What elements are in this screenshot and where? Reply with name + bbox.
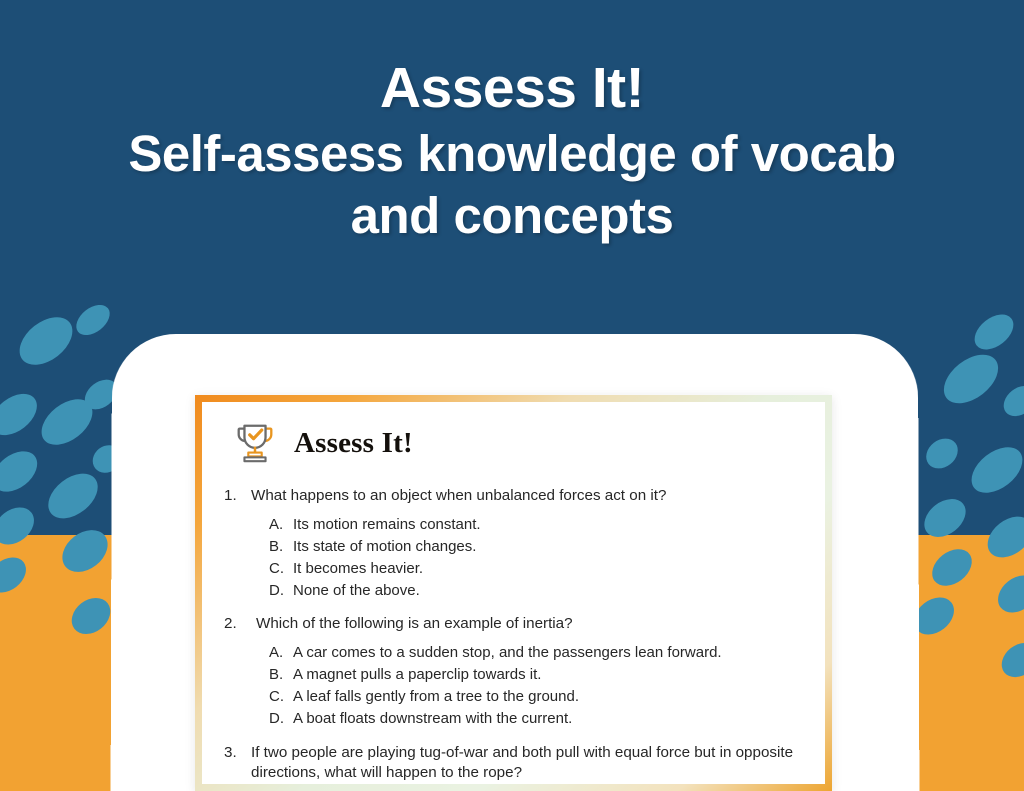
worksheet-header: Assess It! (232, 420, 803, 466)
choice-letter: B. (269, 536, 293, 558)
choice-text: A car comes to a sudden stop, and the pa… (293, 642, 803, 664)
choice-row: C.A leaf falls gently from a tree to the… (269, 686, 803, 708)
question-list: 1.What happens to an object when unbalan… (224, 486, 803, 783)
choice-row: C.It becomes heavier. (269, 558, 803, 580)
choice-letter: A. (269, 642, 293, 664)
choice-text: Its motion remains constant. (293, 514, 803, 536)
question-text: Which of the following is an example of … (256, 614, 803, 634)
choice-letter: D. (269, 708, 293, 730)
question-number: 3. (224, 743, 251, 763)
choice-row: A.Its motion remains constant. (269, 514, 803, 536)
choice-row: B.A magnet pulls a paperclip towards it. (269, 664, 803, 686)
choice-letter: A. (269, 514, 293, 536)
worksheet-title: Assess It! (294, 427, 413, 460)
choice-row: A.A car comes to a sudden stop, and the … (269, 642, 803, 664)
choice-text: Its state of motion changes. (293, 536, 803, 558)
choice-text: A magnet pulls a paperclip towards it. (293, 664, 803, 686)
question-number: 2. (224, 614, 256, 634)
choice-letter: B. (269, 664, 293, 686)
choice-row: D.A boat floats downstream with the curr… (269, 708, 803, 730)
worksheet-page: Assess It! 1.What happens to an object w… (202, 402, 825, 784)
choice-list: A.A car comes to a sudden stop, and the … (269, 642, 803, 730)
choice-text: It becomes heavier. (293, 558, 803, 580)
question-text: What happens to an object when unbalance… (251, 486, 803, 506)
choice-text: None of the above. (293, 580, 803, 602)
question-row: 3.If two people are playing tug-of-war a… (224, 743, 803, 783)
choice-list: A.Its motion remains constant.B.Its stat… (269, 514, 803, 602)
choice-row: D.None of the above. (269, 580, 803, 602)
choice-letter: C. (269, 558, 293, 580)
question-row: 2.Which of the following is an example o… (224, 614, 803, 634)
choice-text: A boat floats downstream with the curren… (293, 708, 803, 730)
trophy-check-icon (232, 420, 278, 466)
question-row: 1.What happens to an object when unbalan… (224, 486, 803, 506)
question-text: If two people are playing tug-of-war and… (251, 743, 803, 783)
choice-text: A leaf falls gently from a tree to the g… (293, 686, 803, 708)
choice-letter: C. (269, 686, 293, 708)
slide-canvas: Assess It! Self-assess knowledge of voca… (0, 0, 1024, 791)
question-number: 1. (224, 486, 251, 506)
choice-letter: D. (269, 580, 293, 602)
choice-row: B.Its state of motion changes. (269, 536, 803, 558)
worksheet-document: Assess It! 1.What happens to an object w… (195, 395, 832, 791)
